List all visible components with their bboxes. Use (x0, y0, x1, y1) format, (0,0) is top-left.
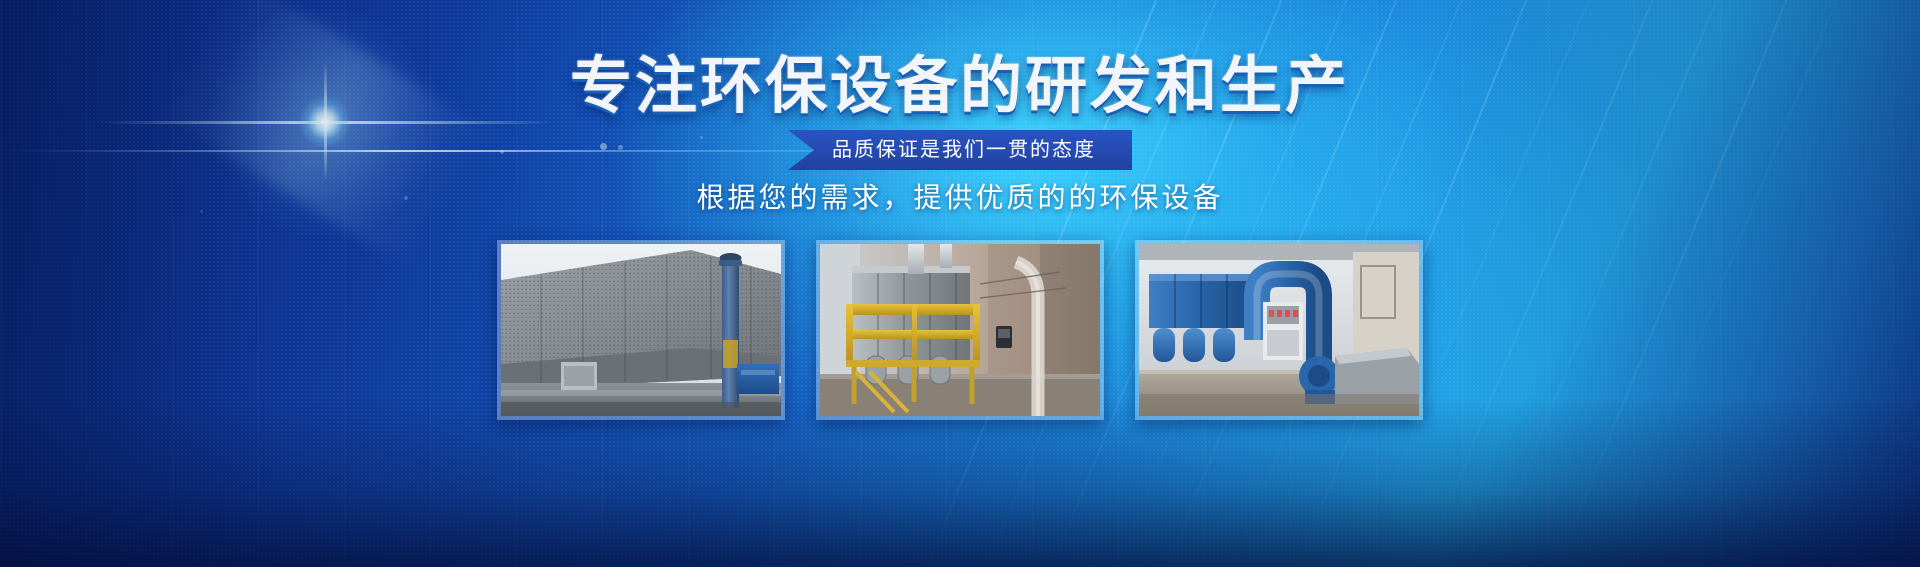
banner-subtitle: 根据您的需求，提供优质的的环保设备 (0, 176, 1920, 216)
hero-banner: 专注环保设备的研发和生产 品质保证是我们一贯的态度 根据您的需求，提供优质的的环… (0, 0, 1920, 567)
photo-inner (820, 244, 1100, 416)
badge-container: 品质保证是我们一贯的态度 (0, 130, 1920, 170)
photo-inner (1139, 244, 1419, 416)
photo-illustration-2 (820, 244, 1100, 416)
photo-illustration-1 (501, 244, 781, 416)
photo-workshop-exterior-stack[interactable] (497, 240, 785, 420)
photo-inner (501, 244, 781, 416)
banner-content: 专注环保设备的研发和生产 品质保证是我们一贯的态度 根据您的需求，提供优质的的环… (0, 0, 1920, 567)
quality-badge: 品质保证是我们一贯的态度 (788, 130, 1132, 170)
photo-catalytic-equipment-platform[interactable] (816, 240, 1104, 420)
photo-gallery (0, 240, 1920, 420)
banner-title: 专注环保设备的研发和生产 (0, 56, 1920, 118)
photo-dust-collector-fan-unit[interactable] (1135, 240, 1423, 420)
photo-illustration-3 (1139, 244, 1419, 416)
